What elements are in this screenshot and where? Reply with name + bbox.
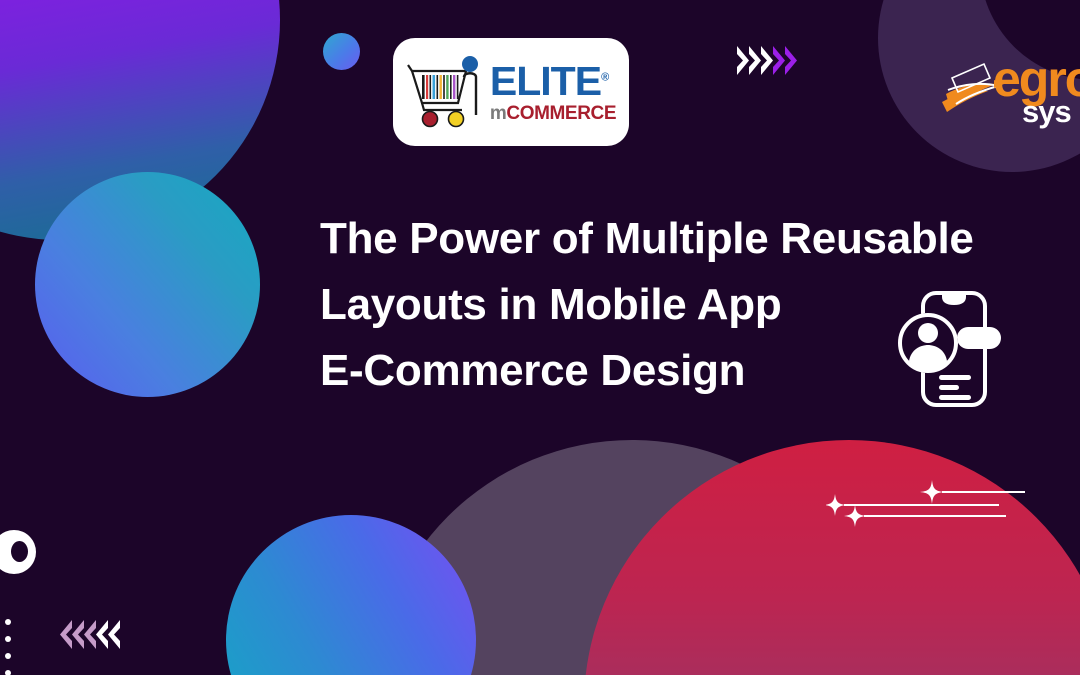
sparkle-icon bbox=[920, 480, 944, 504]
promo-banner: ELITE® mCOMMERCE egro sys The Power of M… bbox=[0, 0, 1080, 675]
mini-dot bbox=[5, 619, 11, 625]
blue-teal-gradient-circle bbox=[35, 172, 260, 397]
egrove-systems-logo[interactable]: egro sys bbox=[938, 52, 1080, 147]
logo-mcommerce-text: mCOMMERCE bbox=[490, 104, 616, 123]
mini-dot bbox=[5, 670, 11, 675]
cart-wheel-red bbox=[422, 112, 437, 127]
egrove-secondary-text: sys bbox=[1022, 96, 1071, 127]
content-line bbox=[939, 385, 959, 390]
small-gradient-dot bbox=[323, 33, 360, 70]
cart-wheel-yellow bbox=[448, 112, 463, 127]
mini-dot-column bbox=[5, 619, 11, 675]
mini-dot bbox=[5, 653, 11, 659]
mobile-profile-illustration bbox=[895, 285, 1005, 410]
speed-line bbox=[844, 504, 999, 506]
shopping-cart-icon bbox=[406, 55, 488, 129]
chevron-right-group bbox=[735, 45, 795, 76]
content-line bbox=[939, 375, 971, 380]
donut-ring-hole bbox=[11, 541, 28, 562]
avatar-head-icon bbox=[918, 323, 938, 343]
elite-mcommerce-logo-card[interactable]: ELITE® mCOMMERCE bbox=[393, 38, 629, 146]
mini-dot bbox=[5, 636, 11, 642]
chevron-right-icon bbox=[783, 45, 799, 76]
shopper-head bbox=[462, 56, 478, 72]
content-line bbox=[939, 395, 971, 400]
shopper-body bbox=[464, 73, 476, 115]
pill-badge-icon bbox=[957, 327, 1001, 349]
chevron-left-icon bbox=[106, 619, 122, 650]
phone-notch bbox=[942, 293, 966, 305]
speed-line bbox=[864, 515, 1006, 517]
sparkle-lines-group bbox=[826, 478, 1036, 540]
sparkle-icon bbox=[844, 505, 866, 527]
logo-elite-text: ELITE® bbox=[490, 61, 616, 102]
registered-mark-icon: ® bbox=[601, 71, 608, 83]
sparkle-icon bbox=[826, 494, 846, 516]
headline-line-1: The Power of Multiple Reusable bbox=[320, 206, 1050, 272]
chevron-left-group bbox=[58, 619, 118, 650]
speed-line bbox=[942, 491, 1025, 493]
